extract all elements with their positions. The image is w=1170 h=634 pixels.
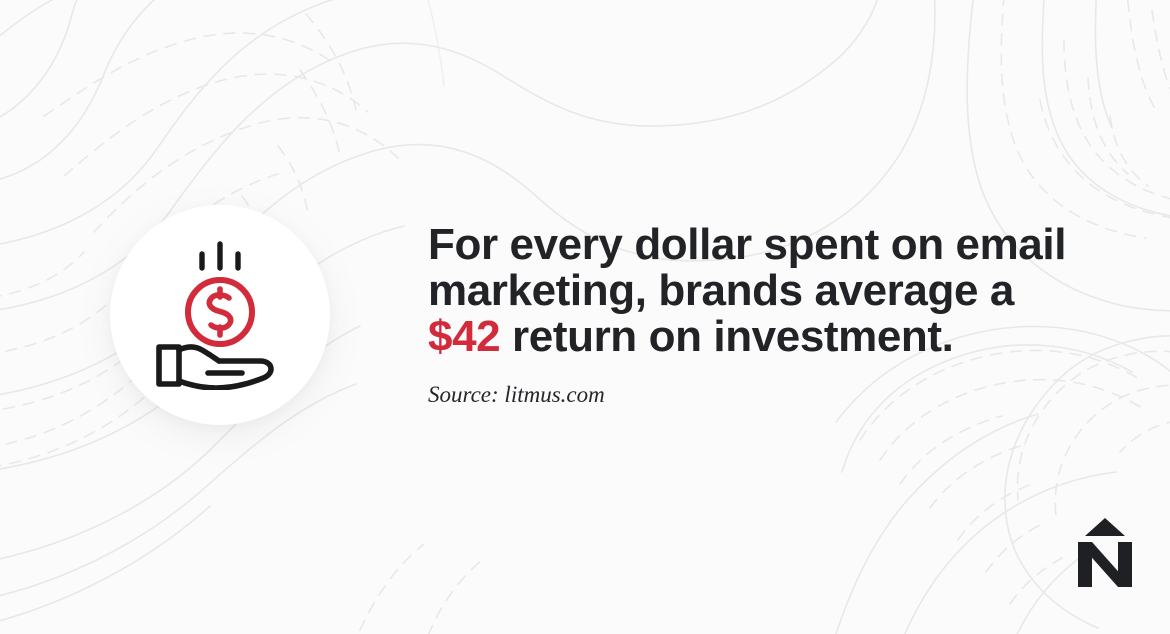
hand-holding-money-icon: [150, 240, 290, 390]
caret-triangle-icon: [1085, 518, 1125, 536]
headline-part-1: For every dollar spent on email marketin…: [428, 220, 1066, 315]
headline-highlight-amount: $42: [428, 312, 500, 361]
north-n-logo: [1072, 514, 1138, 590]
dollar-coin-icon: [188, 280, 252, 344]
letter-n-mark: [1078, 542, 1132, 587]
text-block: For every dollar spent on email marketin…: [428, 222, 1088, 408]
infographic-card: For every dollar spent on email marketin…: [0, 0, 1170, 634]
motion-lines-icon: [202, 244, 238, 268]
headline-part-2: return on investment.: [500, 312, 953, 361]
headline: For every dollar spent on email marketin…: [428, 222, 1078, 360]
open-hand-icon: [159, 347, 271, 388]
source-citation: Source: litmus.com: [428, 382, 1088, 408]
icon-badge: [110, 205, 330, 425]
